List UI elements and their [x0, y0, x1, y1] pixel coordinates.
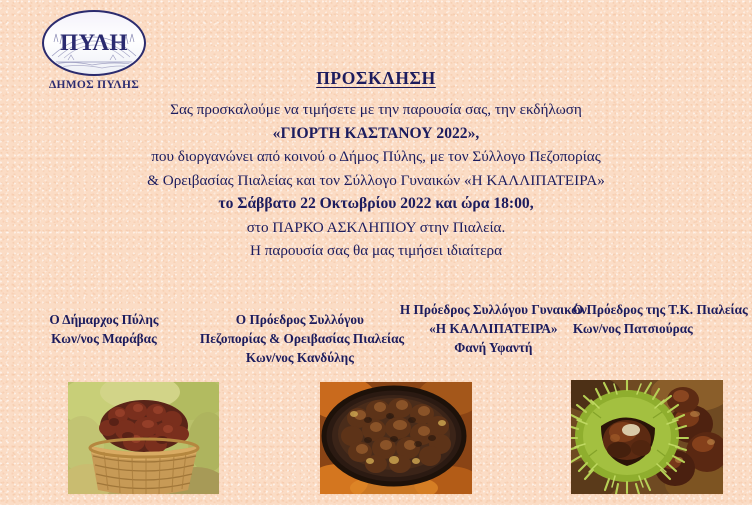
signature-local-community-president: Ο Πρόεδρος της Τ.Κ. Πιαλείας Κων/νος Πατ…: [573, 310, 752, 348]
signature-name: Κων/νος Κανδύλης: [200, 348, 400, 367]
roasted-chestnuts-pan-image: [320, 382, 472, 494]
signature-role: Η Πρόεδρος Συλλόγου Γυναικών: [400, 300, 587, 319]
event-location: στο ΠΑΡΚΟ ΑΣΚΛΗΠΙΟΥ στην Πιαλεία.: [0, 216, 752, 240]
signature-row: Ο Δήμαρχος Πύλης Κων/νος Μαράβας Ο Πρόεδ…: [0, 310, 752, 367]
signature-role-2: Πεζοπορίας & Ορειβασίας Πιαλείας: [200, 329, 400, 348]
signature-name: Κων/νος Πατσιούρας: [573, 319, 752, 338]
signature-role: Ο Δήμαρχος Πύλης: [8, 310, 200, 329]
signature-club: «Η ΚΑΛΛΙΠΑΤΕΙΡΑ»: [400, 319, 587, 338]
signature-name: Φανή Υφαντή: [400, 338, 587, 357]
signature-mayor: Ο Δήμαρχος Πύλης Κων/νος Μαράβας: [8, 310, 200, 348]
signature-hiking-club-president: Ο Πρόεδρος Συλλόγου Πεζοπορίας & Ορειβασ…: [200, 310, 400, 367]
photo-basket-of-chestnuts: [68, 382, 219, 494]
invitation-body: Σας προσκαλούμε να τιμήσετε με την παρου…: [0, 98, 752, 263]
chestnut-burr-image: [571, 380, 723, 494]
body-line: & Ορειβασίας Πιαλείας και τον Σύλλογο Γυ…: [0, 169, 752, 193]
signature-name: Κων/νος Μαράβας: [8, 329, 200, 348]
body-line: Σας προσκαλούμε να τιμήσετε με την παρου…: [0, 98, 752, 122]
page-title: ΠΡΟΣΚΛΗΣΗ: [0, 68, 752, 89]
signature-role: Ο Πρόεδρος Συλλόγου: [200, 310, 400, 329]
signature-role: Ο Πρόεδρος της Τ.Κ. Πιαλείας: [573, 300, 752, 319]
body-line: που διοργανώνει από κοινού ο Δήμος Πύλης…: [0, 145, 752, 169]
photo-roasted-chestnuts-pan: [320, 382, 472, 494]
basket-of-chestnuts-image: [68, 382, 219, 494]
logo-oval: ΠΥΛΗ: [42, 10, 146, 76]
event-name: «ΓΙΟΡΤΗ ΚΑΣΤΑΝΟΥ 2022»,: [0, 122, 752, 146]
photo-chestnut-burr: [571, 380, 723, 494]
logo-wordmark: ΠΥΛΗ: [44, 31, 144, 54]
body-line: Η παρουσία σας θα μας τιμήσει ιδιαίτερα: [0, 239, 752, 263]
event-datetime: το Σάββατο 22 Οκτωβρίου 2022 και ώρα 18:…: [0, 192, 752, 216]
signature-womens-club-president: Η Πρόεδρος Συλλόγου Γυναικών «Η ΚΑΛΛΙΠΑΤ…: [400, 310, 587, 367]
